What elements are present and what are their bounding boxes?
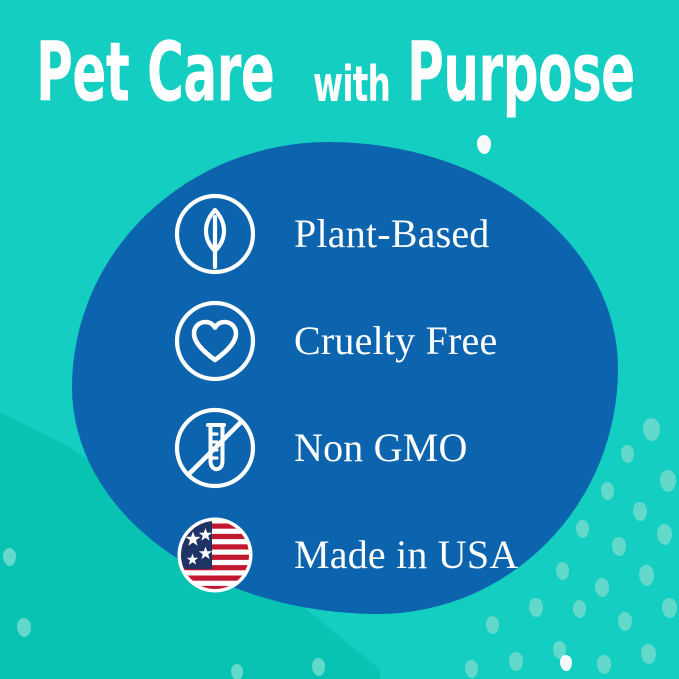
page-title: Pet Care with Purpose ® <box>36 16 656 112</box>
headline-word-with: with <box>313 62 390 109</box>
feature-label: Made in USA <box>294 535 518 575</box>
feature-label: Plant-Based <box>294 214 490 254</box>
usa-flag-icon <box>172 512 258 598</box>
promo-graphic: Pet Care with Purpose ® Plant-Based <box>0 0 679 679</box>
feature-row-cruelty-free: Cruelty Free <box>172 287 592 394</box>
leaf-icon <box>172 191 258 277</box>
feature-row-plant-based: Plant-Based <box>172 180 592 287</box>
heart-icon <box>172 298 258 384</box>
feature-label: Cruelty Free <box>294 321 497 361</box>
headline-word-purpose: Purpose <box>407 33 635 112</box>
no-gmo-test-tube-icon <box>172 405 258 491</box>
feature-list: Plant-Based Cruelty Free <box>172 180 592 608</box>
headline-word-care: Care <box>147 33 274 112</box>
feature-row-made-in-usa: Made in USA <box>172 501 592 608</box>
feature-row-non-gmo: Non GMO <box>172 394 592 501</box>
headline-word-pet: Pet <box>36 33 129 112</box>
feature-label: Non GMO <box>294 428 468 468</box>
